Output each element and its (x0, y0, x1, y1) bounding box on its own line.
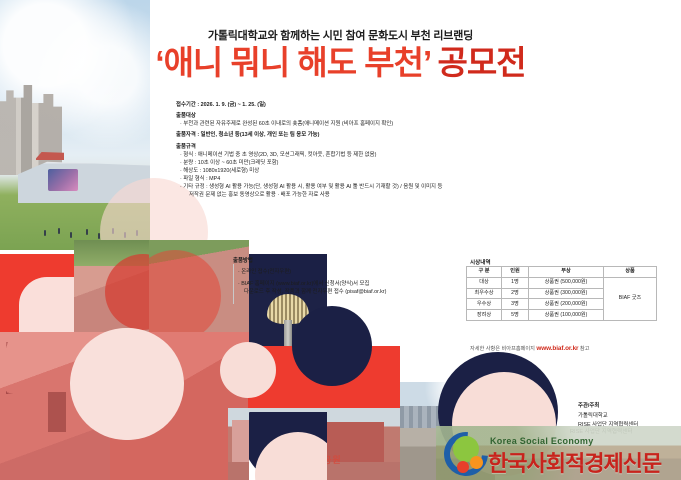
period-label: 접수기간 : 2026. 1. 9. (금) ~ 1. 25. (일) (176, 101, 476, 109)
title-quoted-part: ‘애니 뭐니 해도 부천’ (155, 44, 430, 81)
host-heading: 주관/주최 (578, 402, 678, 411)
decor-navy-circle-band (292, 306, 372, 386)
decor-red-band (248, 346, 400, 408)
tree-branches-shape (6, 342, 76, 394)
apply-line-wrap: 다운로드 후 작성, 작품과 함께 전자우편 접수 (pisaf@biaf.or… (233, 288, 448, 296)
watermark-english-name: Korea Social Economy (490, 436, 594, 446)
cell-prize: 상품권 (300,000원) (529, 288, 604, 299)
cell-division: 장려상 (467, 310, 502, 321)
logo-orange-dot (470, 456, 483, 469)
cell-count: 2명 (502, 288, 529, 299)
cell-division: 대상 (467, 277, 502, 288)
decor-pink-circle-bottom (255, 432, 327, 480)
logo-red-dot (457, 461, 469, 473)
awards-table-wrapper: 구 분 인원 부상 상품 대상 1명 상품권 (500,000원) BIAF 굿… (466, 266, 652, 321)
awards-heading: 시상내역 (470, 258, 491, 266)
awards-reference-note: 자세한 사항은 비아프홈페이지 www.biaf.or.kr 참고 (470, 345, 589, 352)
cell-count: 1명 (502, 277, 529, 288)
col-division: 구 분 (467, 267, 502, 278)
spec-heading: 출품규격 (176, 143, 476, 151)
cell-prize: 상품권 (500,000원) (529, 277, 604, 288)
decor-pink-circle-band (220, 342, 276, 398)
decor-navy-block-bottom (249, 412, 327, 480)
note-suffix: 참고 (578, 346, 589, 352)
target-heading: 출품대상 (176, 112, 476, 120)
apply-line: · 온라인 접수(전자우편) (233, 268, 448, 276)
apply-heading: 출품방법 (233, 257, 448, 265)
eligibility-line: 출품자격 : 일반인, 청소년 등(13세 이상, 개인 또는 팀 응모 가능) (176, 131, 476, 139)
spec-line: · 해상도 : 1080x1920(세로형) 미상 (176, 167, 476, 175)
col-count: 인원 (502, 267, 529, 278)
poster-canvas: 부천문화공원 가톨릭대학교와 함께하는 시민 참여 문화도시 부천 리브랜딩 ‘… (0, 0, 681, 480)
apply-method-block: 출품방법 · 온라인 접수(전자우편) · BIAF 홈페이지 (www.bia… (233, 257, 448, 297)
target-line: · 부천과 관련된 자유주제로 완성된 60초 이내로의 숏폼(애니메이션 지원… (176, 120, 476, 128)
spec-line: · 기타 규정 : 생성형 AI 활용 가능(단, 생성형 AI 활용 시, 활… (176, 183, 476, 191)
note-prefix: 자세한 사항은 비아프홈페이지 (470, 346, 536, 352)
spec-line: · 형식 : 애니메이션 기법 중 초 영상(2D, 3D, 모션그래픽, 컷아… (176, 151, 476, 159)
decor-pink-circle-big (70, 328, 182, 440)
decor-red-block (0, 254, 74, 332)
table-header-row: 구 분 인원 부상 상품 (467, 267, 657, 278)
biaf-url[interactable]: www.biaf.or.kr (536, 345, 578, 352)
watermark-korean-name: 한국사회적경제신문 (488, 446, 661, 478)
korea-social-economy-logo-icon (444, 432, 488, 476)
poster-kicker: 가톨릭대학교와 함께하는 시민 참여 문화도시 부천 리브랜딩 (0, 27, 681, 43)
cell-division: 우수상 (467, 299, 502, 310)
cell-prize: 상품권 (100,000원) (529, 310, 604, 321)
apply-line: · BIAF 홈페이지 (www.biaf.or.kr)에서 신청서(양식)서 … (233, 280, 448, 288)
awards-table: 구 분 인원 부상 상품 대상 1명 상품권 (500,000원) BIAF 굿… (466, 266, 657, 321)
cell-division: 최우수상 (467, 288, 502, 299)
submission-info-block: 접수기간 : 2026. 1. 9. (금) ~ 1. 25. (일) 출품대상… (176, 101, 476, 199)
col-goods: 상품 (604, 267, 657, 278)
spec-line: · 분량 : 10초 이상 ~ 60초 미만(크레딧 포함) (176, 159, 476, 167)
cell-prize: 상품권 (200,000원) (529, 299, 604, 310)
page-title: ‘애니 뭐니 해도 부천’ 공모전 (0, 46, 681, 81)
cell-count: 3명 (502, 299, 529, 310)
spec-line-wrap: 저작권 문제 없는 홍보 동영상으로 활용 · 배포 가능한 자료 사용 (176, 191, 476, 199)
host-line: 가톨릭대학교 (578, 412, 678, 421)
col-prize: 부상 (529, 267, 604, 278)
newspaper-watermark-banner: Korea Social Economy 한국사회적경제신문 (436, 426, 681, 480)
cell-goods: BIAF 굿즈 (604, 277, 657, 320)
title-rest-part: 공모전 (437, 44, 525, 81)
photo-brick-plaza (74, 240, 149, 332)
apartment-towers-shape (0, 85, 62, 175)
cell-count: 5명 (502, 310, 529, 321)
spec-line: · 파일 형식 : MP4 (176, 175, 476, 183)
building-door-shape (48, 392, 66, 432)
table-row: 대상 1명 상품권 (500,000원) BIAF 굿즈 (467, 277, 657, 288)
